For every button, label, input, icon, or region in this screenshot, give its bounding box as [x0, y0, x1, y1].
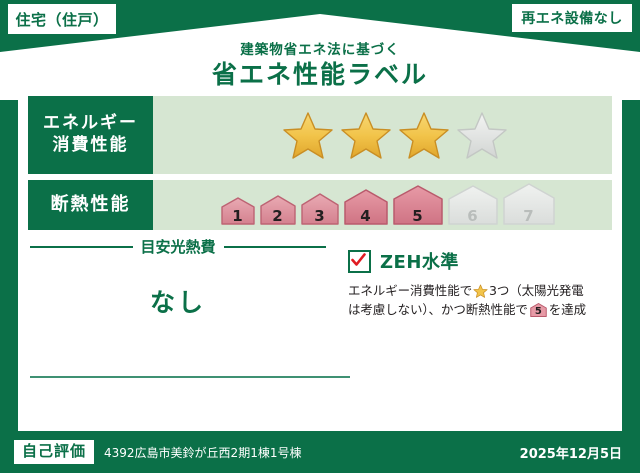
label-panel: エネルギー 消費性能: [18, 88, 622, 431]
insulation-grade-inline-value: 5: [530, 307, 547, 317]
star-icon: [473, 284, 488, 298]
insulation-grade-2: 2: [259, 193, 297, 229]
zeh-title-row: ZEH水準: [348, 248, 608, 274]
heading-rule-left: [30, 246, 133, 248]
label-lower-section: 目安光熱費 なし ZEH水準 エネルギー消費性能で3つ（太陽光発電は考慮しない）…: [18, 236, 622, 431]
insulation-grade-value: 1: [220, 207, 256, 225]
insulation-grade-5: 5: [392, 183, 444, 229]
utility-cost-heading: 目安光熱費: [141, 236, 216, 257]
insulation-grade-value: 3: [300, 207, 340, 225]
insulation-grade-value: 5: [392, 207, 444, 225]
insulation-grade-value: 7: [502, 207, 556, 225]
check-icon: [351, 253, 366, 268]
energy-performance-body: [153, 96, 612, 174]
zeh-block: ZEH水準 エネルギー消費性能で3つ（太陽光発電は考慮しない）、かつ断熱性能で5…: [348, 248, 608, 320]
energy-performance-label: エネルギー 消費性能: [28, 96, 153, 174]
property-address: 4392広島市美鈴が丘西2期1棟1号棟: [104, 444, 520, 461]
insulation-grade-6: 6: [447, 183, 499, 229]
zeh-desc-part4: を達成: [549, 302, 586, 317]
zeh-desc-part3: は考慮しない）、かつ断熱性能で: [348, 302, 528, 317]
insulation-grade-4: 4: [343, 187, 389, 229]
star-icon: [398, 110, 450, 160]
label-title: 省エネ性能ラベル: [0, 55, 640, 91]
energy-performance-label: 住宅（住戸） 再エネ設備なし 建築物省エネ法に基づく 省エネ性能ラベル エネルギ…: [0, 0, 640, 473]
heading-rule-right: [224, 246, 327, 248]
energy-label-line2: 消費性能: [53, 135, 129, 157]
zeh-title: ZEH水準: [380, 248, 459, 274]
energy-performance-row: エネルギー 消費性能: [28, 96, 612, 174]
insulation-grade-scale: 1 2 3 4: [220, 181, 556, 229]
energy-label-line1: エネルギー: [43, 113, 138, 135]
star-icon: [340, 110, 392, 160]
insulation-performance-row: 断熱性能 1 2: [28, 180, 612, 230]
utility-cost-block: 目安光熱費 なし: [30, 236, 326, 319]
insulation-grade-value: 6: [447, 207, 499, 225]
zeh-checkbox[interactable]: [348, 250, 371, 273]
insulation-performance-body: 1 2 3 4: [153, 180, 612, 230]
self-evaluation-badge: 自己評価: [14, 440, 94, 463]
star-icon-empty: [456, 110, 508, 160]
insulation-grade-1: 1: [220, 195, 256, 229]
insulation-grade-value: 2: [259, 207, 297, 225]
section-divider: [30, 376, 350, 378]
star-icon: [282, 110, 334, 160]
insulation-grade-value: 4: [343, 207, 389, 225]
insulation-grade-inline: 5: [530, 302, 547, 317]
utility-cost-heading-row: 目安光熱費: [30, 236, 326, 257]
label-footer: 自己評価 4392広島市美鈴が丘西2期1棟1号棟 2025年12月5日: [0, 431, 640, 473]
zeh-desc-part1: エネルギー消費性能で: [348, 283, 472, 298]
insulation-performance-label: 断熱性能: [28, 180, 153, 230]
badge-renewable-energy: 再エネ設備なし: [512, 4, 632, 32]
utility-cost-value: なし: [30, 283, 326, 319]
insulation-grade-7: 7: [502, 181, 556, 229]
zeh-desc-part2: 3つ（太陽光発電: [489, 283, 584, 298]
insulation-grade-3: 3: [300, 191, 340, 229]
badge-building-type: 住宅（住戸）: [8, 4, 116, 34]
issue-date: 2025年12月5日: [520, 443, 622, 462]
zeh-description: エネルギー消費性能で3つ（太陽光発電は考慮しない）、かつ断熱性能で5を達成: [348, 281, 608, 320]
star-rating: [282, 110, 508, 160]
